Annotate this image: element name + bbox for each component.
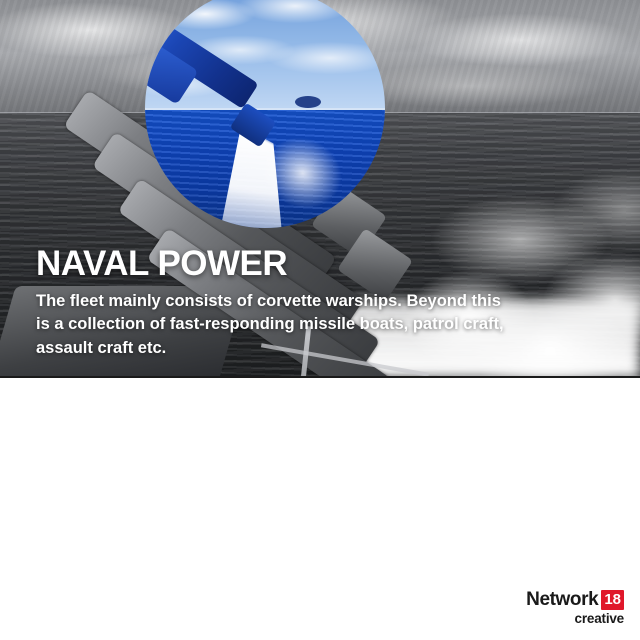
- circle-splash: [295, 96, 321, 108]
- network18-logo: Network 18 creative: [526, 589, 624, 626]
- infographic-page: NAVAL POWER The fleet mainly consists of…: [0, 0, 640, 640]
- page-description: The fleet mainly consists of corvette wa…: [36, 290, 506, 360]
- page-title: NAVAL POWER: [36, 246, 287, 281]
- logo-subtitle: creative: [526, 611, 624, 626]
- chart-panel: NO. OF UNITS Patrol vessels 38 Missile b…: [0, 378, 640, 640]
- circle-overlay-missile-launch: [145, 0, 385, 228]
- logo-badge-18: 18: [601, 590, 624, 610]
- logo-wordmark: Network: [526, 589, 598, 611]
- hero-photo: NAVAL POWER The fleet mainly consists of…: [0, 0, 640, 378]
